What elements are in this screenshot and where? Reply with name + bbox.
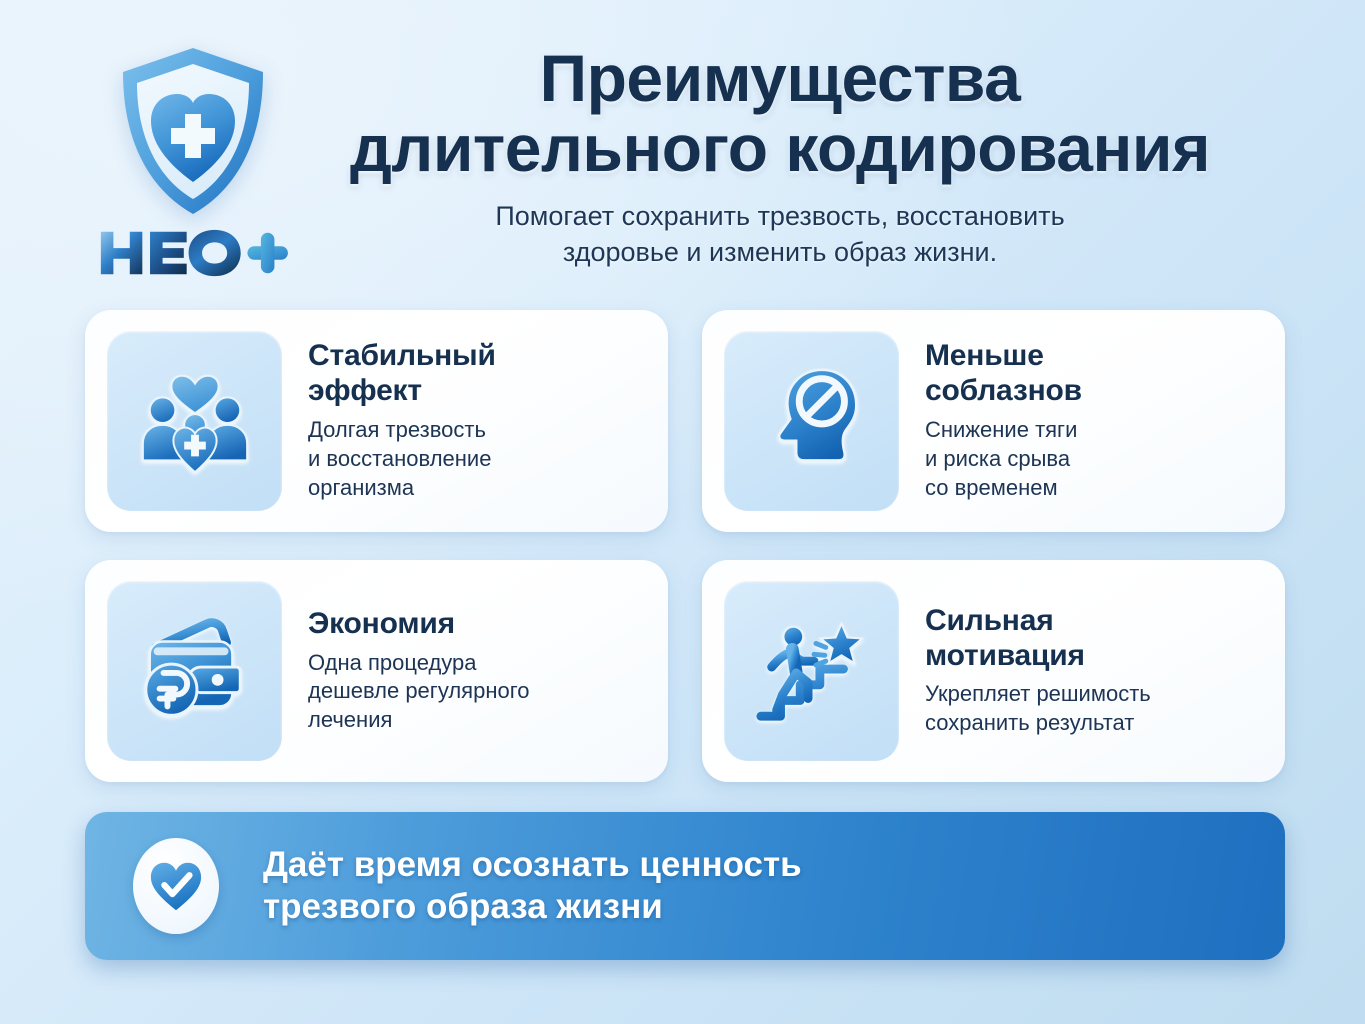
card-title: Меньше соблазнов [925, 339, 1082, 409]
benefit-card-less-temptation[interactable]: Меньше соблазнов Снижение тяги и риска с… [702, 310, 1285, 532]
benefit-card-motivation[interactable]: Сильная мотивация Укрепляет решимость со… [702, 560, 1285, 782]
card-title: Экономия [308, 607, 529, 642]
card-title-line-2: соблазнов [925, 374, 1082, 407]
card-text: Меньше соблазнов Снижение тяги и риска с… [899, 339, 1090, 502]
card-desc-line-1: Укрепляет решимость [925, 681, 1151, 706]
family-heart-plus-icon [107, 331, 282, 511]
card-description: Снижение тяги и риска срыва со временем [925, 416, 1082, 502]
title-line-1: Преимущества [540, 41, 1021, 115]
card-title-line-1: Экономия [308, 607, 455, 640]
head-prohibition-icon [724, 331, 899, 511]
card-title: Сильная мотивация [925, 604, 1151, 674]
benefit-card-savings[interactable]: Экономия Одна процедура дешевле регулярн… [85, 560, 668, 782]
title-block: Преимущества длительного кодирования Пом… [275, 44, 1285, 270]
page-subtitle: Помогает сохранить трезвость, восстанови… [275, 198, 1285, 270]
card-title-line-1: Меньше [925, 339, 1044, 372]
card-desc-line-2: и риска срыва [925, 446, 1070, 471]
card-title-line-1: Сильная [925, 604, 1054, 637]
benefit-card-stable-effect[interactable]: Стабильный эффект Долгая трезвость и вос… [85, 310, 668, 532]
heart-check-icon [133, 838, 219, 934]
title-line-2: длительного кодирования [275, 114, 1285, 184]
banner-line-1: Даёт время осознать ценность [263, 845, 802, 884]
shield-heart-plus-icon [113, 42, 273, 222]
card-title: Стабильный эффект [308, 339, 496, 409]
card-text: Экономия Одна процедура дешевле регулярн… [282, 607, 537, 735]
card-desc-line-1: Снижение тяги [925, 417, 1077, 442]
card-desc-line-2: дешевле регулярного [308, 678, 529, 703]
card-description: Укрепляет решимость сохранить результат [925, 680, 1151, 738]
card-description: Долгая трезвость и восстановление органи… [308, 416, 496, 502]
card-desc-line-3: лечения [308, 707, 392, 732]
header: Преимущества длительного кодирования Пом… [0, 0, 1365, 305]
card-desc-line-3: со временем [925, 475, 1058, 500]
summary-banner[interactable]: Даёт время осознать ценность трезвого об… [85, 812, 1285, 960]
brand-logo [78, 42, 308, 280]
card-description: Одна процедура дешевле регулярного лечен… [308, 649, 529, 735]
card-title-line-1: Стабильный [308, 339, 496, 372]
card-desc-line-1: Одна процедура [308, 650, 477, 675]
card-text: Стабильный эффект Долгая трезвость и вос… [282, 339, 504, 502]
subtitle-line-1: Помогает сохранить трезвость, восстанови… [495, 201, 1064, 231]
card-title-line-2: мотивация [925, 639, 1085, 672]
benefits-grid: Стабильный эффект Долгая трезвость и вос… [85, 310, 1285, 782]
card-desc-line-3: организма [308, 475, 414, 500]
subtitle-line-2: здоровье и изменить образ жизни. [275, 234, 1285, 270]
banner-text: Даёт время осознать ценность трезвого об… [219, 844, 802, 928]
card-desc-line-2: и восстановление [308, 446, 491, 471]
card-desc-line-2: сохранить результат [925, 710, 1134, 735]
card-desc-line-1: Долгая трезвость [308, 417, 486, 442]
page-title: Преимущества длительного кодирования [275, 44, 1285, 184]
wallet-ruble-icon [107, 581, 282, 761]
card-text: Сильная мотивация Укрепляет решимость со… [899, 604, 1159, 738]
person-stairs-star-icon [724, 581, 899, 761]
banner-line-2: трезвого образа жизни [263, 886, 802, 928]
card-title-line-2: эффект [308, 374, 422, 407]
brand-name [78, 226, 308, 280]
